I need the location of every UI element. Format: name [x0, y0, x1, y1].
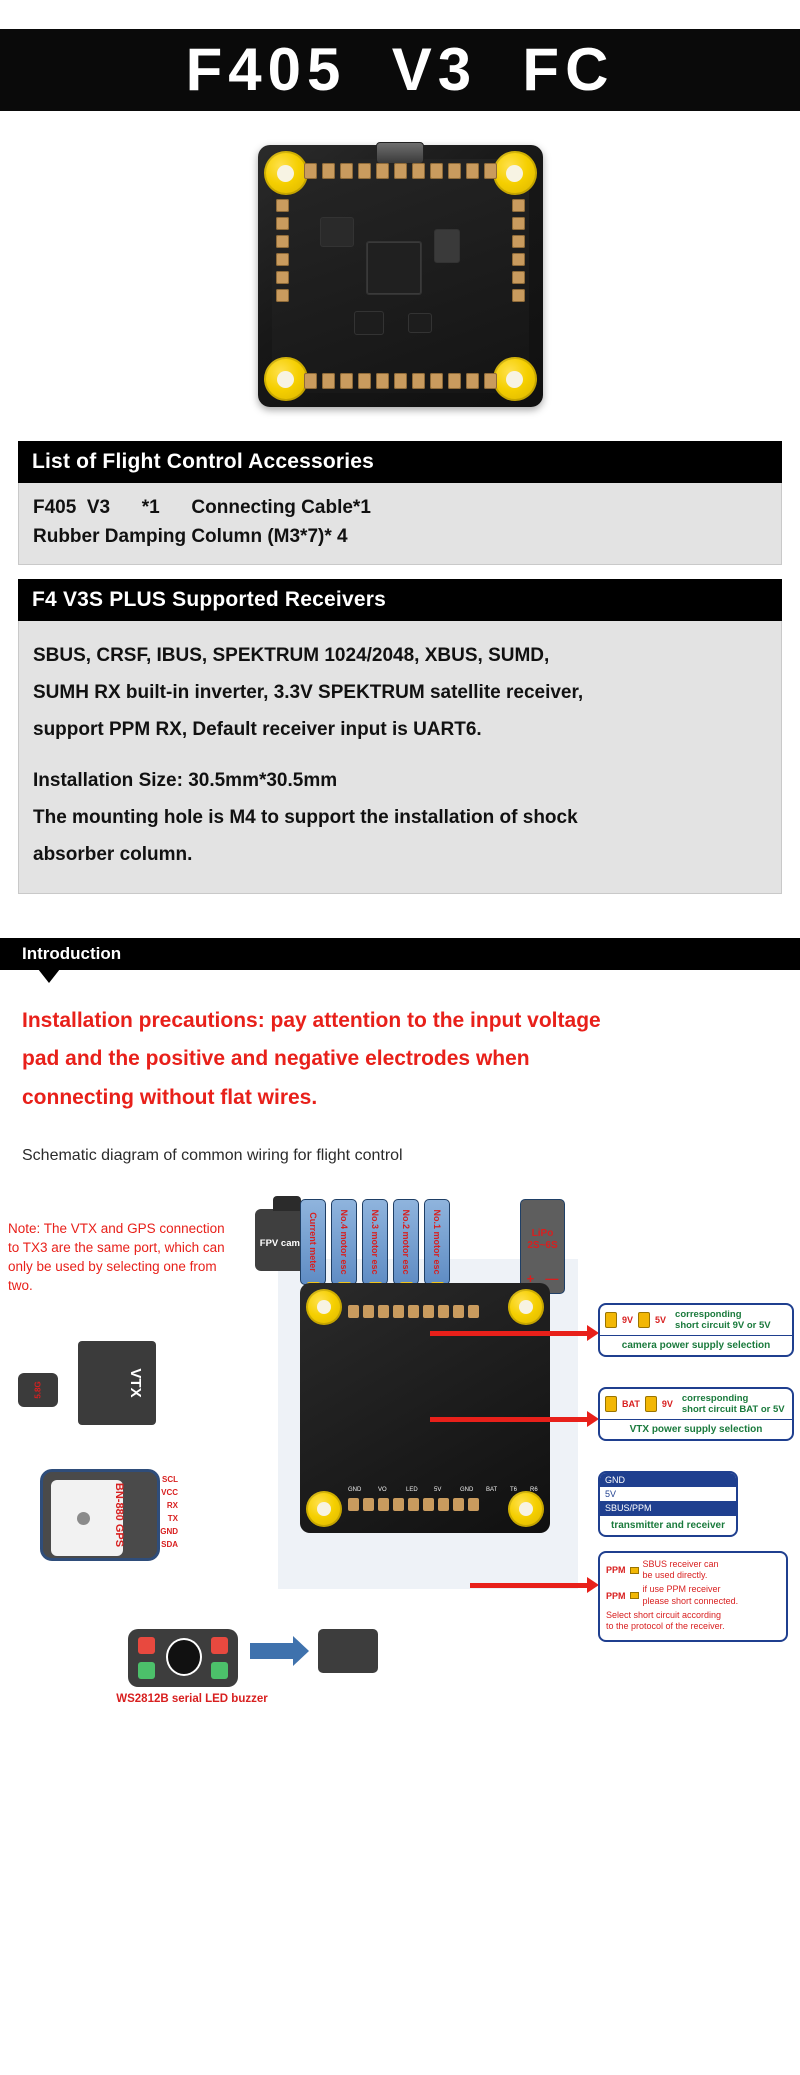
ppm-text-1-line-2: be used directly. — [643, 1570, 719, 1581]
solder-pad — [466, 373, 479, 389]
diagram-pad — [438, 1305, 449, 1318]
solder-pad — [512, 271, 525, 284]
diagram-pin-gnd-2: GND — [460, 1487, 473, 1493]
blue-arrow-icon — [250, 1643, 294, 1659]
gps-label: BN-880 GPS — [113, 1483, 125, 1547]
lipo-battery: LiPo 2S~6S + — — [520, 1199, 565, 1294]
diagram-pad-row-top — [348, 1305, 479, 1318]
solder-pad — [448, 373, 461, 389]
diagram-pin-r6: R6 — [530, 1487, 538, 1493]
introduction-header-wrap: Introduction — [0, 938, 800, 970]
solder-pad-col-right — [512, 199, 525, 302]
solder-pad — [512, 217, 525, 230]
ws2812b-led-buzzer — [128, 1629, 238, 1687]
callout-receiver-pins: GND 5V SBUS/PPM transmitter and receiver — [598, 1471, 738, 1537]
diagram-pad — [453, 1498, 464, 1511]
solder-pad — [484, 373, 497, 389]
callout-vtx-power-selection: BAT 9V corresponding short circuit BAT o… — [598, 1387, 794, 1441]
ppm-row-1: PPM SBUS receiver can be used directly. — [606, 1559, 780, 1582]
flight-controller-board-image — [258, 145, 543, 407]
arrow-to-ppm-callout-icon — [470, 1583, 588, 1588]
gps-pin-gnd: GND — [152, 1525, 178, 1538]
ppm-jumper-icon-2 — [630, 1592, 639, 1599]
arrow-to-vtx-callout-icon — [430, 1417, 588, 1422]
diagram-flight-controller: GND VO LED 5V GND BAT T6 R6 — [300, 1283, 550, 1533]
vtx-label: VTX — [127, 1368, 144, 1397]
accessories-heading: List of Flight Control Accessories — [18, 441, 782, 483]
mounting-grommet-top-right — [493, 151, 537, 195]
lipo-minus: — — [545, 1271, 558, 1287]
solder-pad — [512, 253, 525, 266]
diagram-pad — [378, 1305, 389, 1318]
solder-pad-row-top — [304, 163, 497, 179]
esc-stack: Current meter No.4 motor esc No.3 motor … — [300, 1199, 450, 1285]
receiver-callout-title: transmitter and receiver — [600, 1515, 736, 1535]
motor-esc-2: No.2 motor esc — [393, 1199, 419, 1285]
voltage-regulator-chip — [320, 217, 354, 247]
receiver-pin-sbus-ppm: SBUS/PPM — [600, 1501, 736, 1515]
introduction-warning: Installation precautions: pay attention … — [22, 1002, 778, 1117]
solder-pad — [412, 163, 425, 179]
diagram-pin-gnd: GND — [348, 1487, 361, 1493]
gps-pin-tx: TX — [152, 1512, 178, 1525]
solder-pad — [322, 163, 335, 179]
accessories-line-2: Rubber Damping Column (M3*7)* 4 — [33, 522, 767, 551]
led-green-bottom-right — [211, 1662, 228, 1679]
buzzer-caption: WS2812B serial LED buzzer — [102, 1693, 282, 1705]
mounting-grommet-bottom-right — [493, 357, 537, 401]
solder-pad — [304, 163, 317, 179]
receiver-pin-5v: 5V — [600, 1487, 736, 1501]
camera-callout-text-1: corresponding — [675, 1309, 771, 1320]
callout-ppm-sbus-selection: PPM SBUS receiver can be used directly. … — [598, 1551, 788, 1643]
diagram-pad — [468, 1305, 479, 1318]
solder-pad — [276, 253, 289, 266]
receivers-line-3: support PPM RX, Default receiver input i… — [33, 711, 767, 748]
current-meter: Current meter — [300, 1199, 326, 1285]
diagram-pad — [453, 1305, 464, 1318]
warning-line-2: pad and the positive and negative electr… — [22, 1040, 778, 1078]
vtx-callout-row: BAT 9V corresponding short circuit BAT o… — [600, 1389, 792, 1419]
diagram-note: Note: The VTX and GPS connection to TX3 … — [8, 1219, 236, 1296]
title-banner: F405 V3 FC — [0, 29, 800, 111]
vtx-pad-bat-label: BAT — [622, 1399, 640, 1409]
diagram-grommet-bottom-right — [508, 1491, 544, 1527]
diagram-grommet-top-right — [508, 1289, 544, 1325]
ppm-jumper-icon — [630, 1567, 639, 1574]
vtx-callout-title: VTX power supply selection — [600, 1419, 792, 1439]
buzzer-speaker — [166, 1638, 202, 1676]
product-documentation-page: F405 V3 FC — [0, 29, 800, 2075]
esc-connector-block — [318, 1629, 378, 1673]
receivers-body: SBUS, CRSF, IBUS, SPEKTRUM 1024/2048, XB… — [18, 621, 782, 894]
camera-pad-9v-label: 9V — [622, 1315, 633, 1325]
solder-pad — [276, 271, 289, 284]
solder-pad-row-bottom — [304, 373, 497, 389]
receivers-line-1: SBUS, CRSF, IBUS, SPEKTRUM 1024/2048, XB… — [33, 637, 767, 674]
solder-pad — [340, 373, 353, 389]
gps-pin-vcc: VCC — [152, 1486, 178, 1499]
warning-line-1: Installation precautions: pay attention … — [22, 1002, 778, 1040]
ppm-text-2-line-2: please short connected. — [643, 1596, 739, 1607]
motor-esc-1: No.1 motor esc — [424, 1199, 450, 1285]
ppm-text-2-line-1: if use PPM receiver — [643, 1584, 739, 1595]
solder-pad — [276, 199, 289, 212]
arrow-to-camera-callout-icon — [430, 1331, 588, 1336]
lipo-name: LiPo — [521, 1228, 564, 1241]
solder-pad — [466, 163, 479, 179]
solder-pad — [512, 199, 525, 212]
solder-pad — [484, 163, 497, 179]
component-small-2 — [408, 313, 432, 333]
receivers-line-2: SUMH RX built-in inverter, 3.3V SPEKTRUM… — [33, 674, 767, 711]
ppm-tag-2: PPM — [606, 1591, 626, 1601]
led-green-bottom-left — [138, 1662, 155, 1679]
diagram-pad — [393, 1498, 404, 1511]
motor-esc-4: No.4 motor esc — [331, 1199, 357, 1285]
diagram-grommet-top-left — [306, 1289, 342, 1325]
capacitor — [434, 229, 460, 263]
solder-jumper-9v-icon — [645, 1396, 657, 1412]
motor-esc-2-label: No.2 motor esc — [401, 1209, 411, 1274]
ppm-tag-1: PPM — [606, 1565, 626, 1575]
spacer — [33, 748, 767, 762]
vtx-callout-text-2: short circuit BAT or 5V — [682, 1404, 785, 1415]
diagram-pad — [408, 1498, 419, 1511]
solder-pad — [304, 373, 317, 389]
antenna-5g8: 5.8G — [18, 1373, 58, 1407]
receiver-pin-gnd: GND — [600, 1473, 736, 1487]
led-red-top-left — [138, 1637, 155, 1654]
lipo-spec: 2S~6S — [521, 1240, 564, 1253]
gps-pin-scl: SCL — [152, 1473, 178, 1486]
diagram-pad — [423, 1305, 434, 1318]
accessories-panel: List of Flight Control Accessories F405 … — [18, 441, 782, 565]
diagram-grommet-bottom-left — [306, 1491, 342, 1527]
diagram-pad — [378, 1498, 389, 1511]
diagram-pad — [393, 1305, 404, 1318]
product-photo — [0, 111, 800, 441]
accessories-body: F405 V3 *1 Connecting Cable*1 Rubber Dam… — [18, 483, 782, 565]
mounting-grommet-bottom-left — [264, 357, 308, 401]
introduction-heading: Introduction — [0, 938, 800, 970]
vtx-pad-9v-label: 9V — [662, 1399, 673, 1409]
diagram-pad — [438, 1498, 449, 1511]
antenna-label: 5.8G — [34, 1381, 43, 1398]
solder-pad — [276, 217, 289, 230]
current-meter-label: Current meter — [308, 1212, 318, 1272]
diagram-pad — [408, 1305, 419, 1318]
receivers-line-4: Installation Size: 30.5mm*30.5mm — [33, 762, 767, 799]
solder-pad — [358, 163, 371, 179]
gps-center-dot — [77, 1512, 90, 1525]
motor-esc-4-label: No.4 motor esc — [339, 1209, 349, 1274]
solder-pad — [448, 163, 461, 179]
ppm-row-2: PPM if use PPM receiver please short con… — [606, 1584, 780, 1607]
receivers-line-5: The mounting hole is M4 to support the i… — [33, 799, 767, 836]
solder-pad — [512, 235, 525, 248]
diagram-pad — [363, 1305, 374, 1318]
diagram-pin-t6: T6 — [510, 1487, 517, 1493]
receivers-heading: F4 V3S PLUS Supported Receivers — [18, 579, 782, 621]
camera-pad-5v-label: 5V — [655, 1315, 666, 1325]
diagram-pad — [363, 1498, 374, 1511]
diagram-pin-5v: 5V — [434, 1487, 441, 1493]
receivers-line-6: absorber column. — [33, 836, 767, 873]
introduction-pointer-icon — [38, 969, 60, 983]
gps-pin-sda: SDA — [152, 1538, 178, 1551]
wiring-schematic-diagram: Note: The VTX and GPS connection to TX3 … — [0, 1191, 800, 1791]
solder-jumper-bat-icon — [605, 1396, 617, 1412]
solder-pad — [512, 289, 525, 302]
vtx-callout-text-1: corresponding — [682, 1393, 785, 1404]
diagram-pin-led: LED — [406, 1487, 418, 1493]
solder-pad — [276, 235, 289, 248]
ppm-footer-line-1: Select short circuit according — [606, 1610, 780, 1621]
warning-line-3: connecting without flat wires. — [22, 1079, 778, 1117]
camera-callout-text-2: short circuit 9V or 5V — [675, 1320, 771, 1331]
solder-pad — [376, 163, 389, 179]
page-title: F405 V3 FC — [186, 40, 615, 100]
motor-esc-1-label: No.1 motor esc — [432, 1209, 442, 1274]
diagram-pin-vo: VO — [378, 1487, 387, 1493]
solder-pad — [340, 163, 353, 179]
camera-callout-title: camera power supply selection — [600, 1335, 792, 1355]
solder-pad-col-left — [276, 199, 289, 302]
ppm-text-1-line-1: SBUS receiver can — [643, 1559, 719, 1570]
solder-pad — [394, 373, 407, 389]
receivers-panel: F4 V3S PLUS Supported Receivers SBUS, CR… — [18, 579, 782, 894]
solder-jumper-5v-icon — [638, 1312, 650, 1328]
solder-pad — [430, 163, 443, 179]
accessories-line-1: F405 V3 *1 Connecting Cable*1 — [33, 493, 767, 522]
motor-esc-3: No.3 motor esc — [362, 1199, 388, 1285]
solder-pad — [394, 163, 407, 179]
diagram-pad-row-bottom — [348, 1498, 479, 1511]
gps-module: BN-880 GPS — [40, 1469, 160, 1561]
callout-camera-power-selection: 9V 5V corresponding short circuit 9V or … — [598, 1303, 794, 1357]
diagram-pad — [468, 1498, 479, 1511]
diagram-pad — [423, 1498, 434, 1511]
solder-pad — [376, 373, 389, 389]
mcu-chip — [366, 241, 422, 295]
mounting-grommet-top-left — [264, 151, 308, 195]
component-small-1 — [354, 311, 384, 335]
solder-pad — [322, 373, 335, 389]
schematic-caption: Schematic diagram of common wiring for f… — [22, 1147, 778, 1165]
gps-pin-rx: RX — [152, 1499, 178, 1512]
solder-pad — [358, 373, 371, 389]
usb-c-port — [376, 142, 424, 164]
solder-jumper-9v-icon — [605, 1312, 617, 1328]
ppm-footer-line-2: to the protocol of the receiver. — [606, 1621, 780, 1632]
diagram-pad — [348, 1305, 359, 1318]
camera-callout-row: 9V 5V corresponding short circuit 9V or … — [600, 1305, 792, 1335]
solder-pad — [276, 289, 289, 302]
diagram-pin-bat: BAT — [486, 1487, 497, 1493]
diagram-pad — [348, 1498, 359, 1511]
motor-esc-3-label: No.3 motor esc — [370, 1209, 380, 1274]
gps-pin-labels: SCL VCC RX TX GND SDA — [152, 1473, 178, 1551]
solder-pad — [412, 373, 425, 389]
solder-pad — [430, 373, 443, 389]
vtx-module: VTX — [78, 1341, 156, 1425]
led-red-top-right — [211, 1637, 228, 1654]
